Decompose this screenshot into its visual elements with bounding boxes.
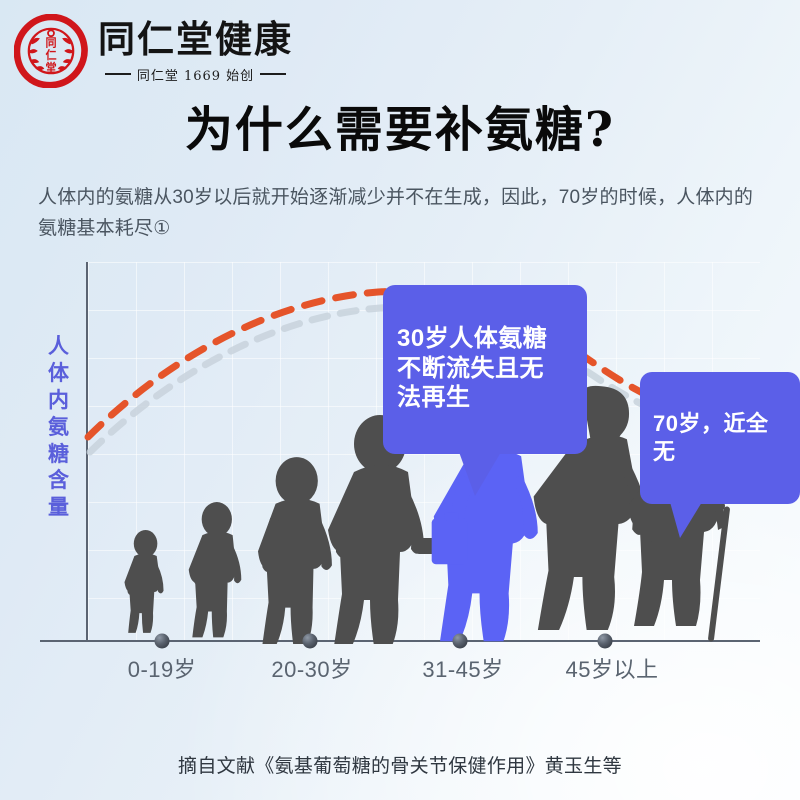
x-tick-dot-2	[453, 634, 468, 649]
figure-child	[124, 530, 163, 633]
callout-bubble-age-70-text: 70岁，近全无	[653, 411, 768, 463]
brand-bar: 同 仁 堂 同仁堂健康 同仁堂 1669 始创	[14, 14, 293, 88]
callout-bubble-age-30-text: 30岁人体氨糖 不断流失且无 法再生	[397, 325, 547, 412]
page-subtitle: 人体内的氨糖从30岁以后就开始逐渐减少并不在生成，因此，70岁的时候，人体内的氨…	[38, 182, 768, 245]
source-citation: 摘自文献《氨基葡萄糖的骨关节保健作用》黄玉生等	[0, 751, 800, 778]
rule-left	[105, 73, 131, 75]
x-tick-label-0: 0-19岁	[128, 652, 197, 684]
page-title: 为什么需要补氨糖?	[0, 104, 800, 157]
callout-bubble-age-30: 30岁人体氨糖 不断流失且无 法再生	[383, 285, 587, 454]
brand-tagline-row: 同仁堂 1669 始创	[105, 65, 286, 84]
x-tick-dot-0	[155, 634, 170, 649]
tongrentang-seal-icon: 同 仁 堂	[14, 14, 88, 88]
callout-tail	[459, 452, 501, 496]
x-tick-label-2: 31-45岁	[422, 652, 503, 684]
x-tick-label-1: 20-30岁	[271, 652, 352, 684]
brand-text: 同仁堂健康 同仁堂 1669 始创	[98, 21, 293, 84]
figure-teen	[258, 457, 332, 644]
brand-tagline: 同仁堂 1669 始创	[137, 65, 254, 84]
x-tick-label-3: 45岁以上	[566, 652, 659, 684]
x-tick-dot-1	[303, 634, 318, 649]
callout-tail	[670, 502, 702, 538]
callout-bubble-age-70: 70岁，近全无	[640, 372, 800, 504]
rule-right	[260, 73, 286, 75]
figure-kid	[189, 502, 242, 637]
poster-root: 同 仁 堂 同仁堂健康 同仁堂 1669 始创 为什么需要补氨糖? 人体内的氨糖…	[0, 0, 800, 800]
svg-text:仁: 仁	[45, 48, 56, 62]
x-tick-dot-3	[598, 634, 613, 649]
brand-name: 同仁堂健康	[98, 21, 293, 58]
svg-text:同: 同	[45, 37, 56, 50]
svg-text:堂: 堂	[45, 61, 56, 75]
